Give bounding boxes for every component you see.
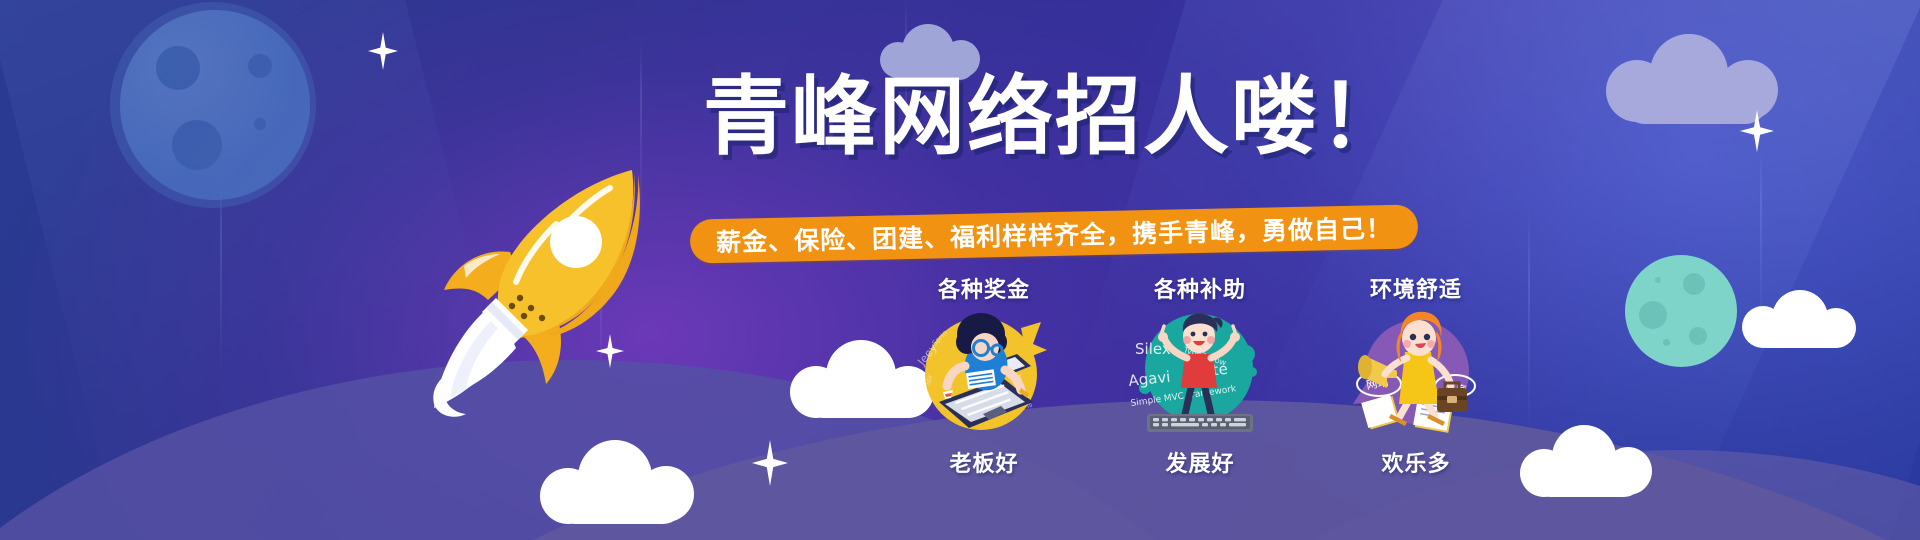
recruitment-banner: 青峰网络招人喽！ 薪金、保险、团建、福利样样齐全，携手青峰，勇做自己！ 各种奖金… <box>0 0 1920 540</box>
subtitle-banner: 薪金、保险、团建、福利样样齐全，携手青峰，勇做自己！ <box>690 204 1419 263</box>
feature-item-bonus: 各种奖金 Jeey Sprin Final ibernate ze • Spr <box>900 272 1068 478</box>
moon-crater <box>172 120 222 170</box>
planet-crater <box>1655 277 1661 283</box>
light-streak <box>1760 150 1762 330</box>
moon-crater <box>156 46 200 90</box>
blue-moon-icon <box>120 10 310 200</box>
light-streak <box>1528 210 1530 440</box>
teal-planet-icon <box>1625 255 1737 367</box>
page-title: 青峰网络招人喽！ <box>660 72 1450 162</box>
feature-bottom-label: 欢乐多 <box>1381 446 1450 478</box>
planet-crater <box>1683 273 1705 295</box>
feature-top-label: 环境舒适 <box>1370 272 1462 304</box>
feature-bottom-label: 发展好 <box>1165 446 1234 478</box>
dancing-person-with-keyboard-icon: Silex Typo3 Flow Agavi Nette Simple MVC … <box>1125 310 1275 440</box>
planet-crater <box>1689 327 1707 345</box>
rocket-icon <box>400 140 670 410</box>
feature-bottom-label: 老板好 <box>949 446 1018 478</box>
feature-item-environment: 环境舒适 网站 百度 <box>1332 272 1500 478</box>
feature-list: 各种奖金 Jeey Sprin Final ibernate ze • Spr <box>900 272 1500 478</box>
planet-crater <box>1663 339 1670 346</box>
feature-item-subsidy: 各种补助 Silex Typo3 Flow Agavi Nette Simple… <box>1116 272 1284 478</box>
woman-with-megaphone-icon: 网站 百度 <box>1341 310 1491 440</box>
moon-shading <box>120 10 310 200</box>
moon-crater <box>248 54 272 78</box>
subtitle-text: 薪金、保险、团建、福利样样齐全，携手青峰，勇做自己！ <box>716 209 1393 259</box>
star-top-left-icon <box>368 32 398 70</box>
feature-top-label: 各种奖金 <box>938 272 1030 304</box>
planet-crater <box>1639 301 1667 329</box>
moon-crater <box>254 118 266 130</box>
developer-at-laptop-icon: Jeey Sprin Final ibernate ze • Spr <box>909 310 1059 440</box>
feature-top-label: 各种补助 <box>1154 272 1246 304</box>
headline-wrap: 青峰网络招人喽！ <box>660 72 1450 162</box>
